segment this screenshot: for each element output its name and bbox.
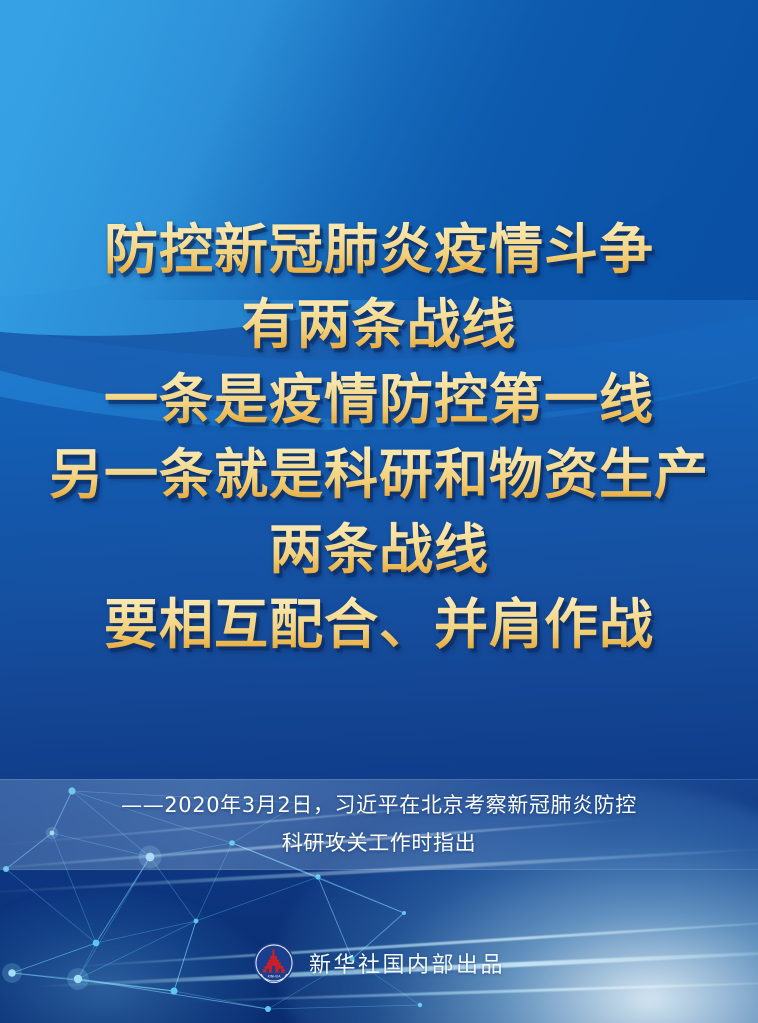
footer-bar: XINHUA 新华社国内部出品 <box>0 942 758 984</box>
poster-canvas: 防控新冠肺炎疫情斗争 有两条战线 一条是疫情防控第一线 另一条就是科研和物资生产… <box>0 0 758 1023</box>
quote-line-4: 另一条就是科研和物资生产 <box>0 437 758 512</box>
quote-block: 防控新冠肺炎疫情斗争 有两条战线 一条是疫情防控第一线 另一条就是科研和物资生产… <box>0 212 758 662</box>
attribution-line-2: 科研攻关工作时指出 <box>0 824 758 862</box>
xinhua-emblem-icon: XINHUA <box>253 942 295 984</box>
attribution-block: ——2020年3月2日，习近平在北京考察新冠肺炎防控 科研攻关工作时指出 <box>0 786 758 862</box>
attribution-line-1: ——2020年3月2日，习近平在北京考察新冠肺炎防控 <box>0 786 758 824</box>
quote-line-3: 一条是疫情防控第一线 <box>0 362 758 437</box>
quote-line-2: 有两条战线 <box>0 287 758 362</box>
svg-text:XINHUA: XINHUA <box>267 975 281 979</box>
quote-line-5: 两条战线 <box>0 512 758 587</box>
footer-label: 新华社国内部出品 <box>309 947 505 979</box>
quote-line-1: 防控新冠肺炎疫情斗争 <box>0 212 758 287</box>
quote-line-6: 要相互配合、并肩作战 <box>0 587 758 662</box>
